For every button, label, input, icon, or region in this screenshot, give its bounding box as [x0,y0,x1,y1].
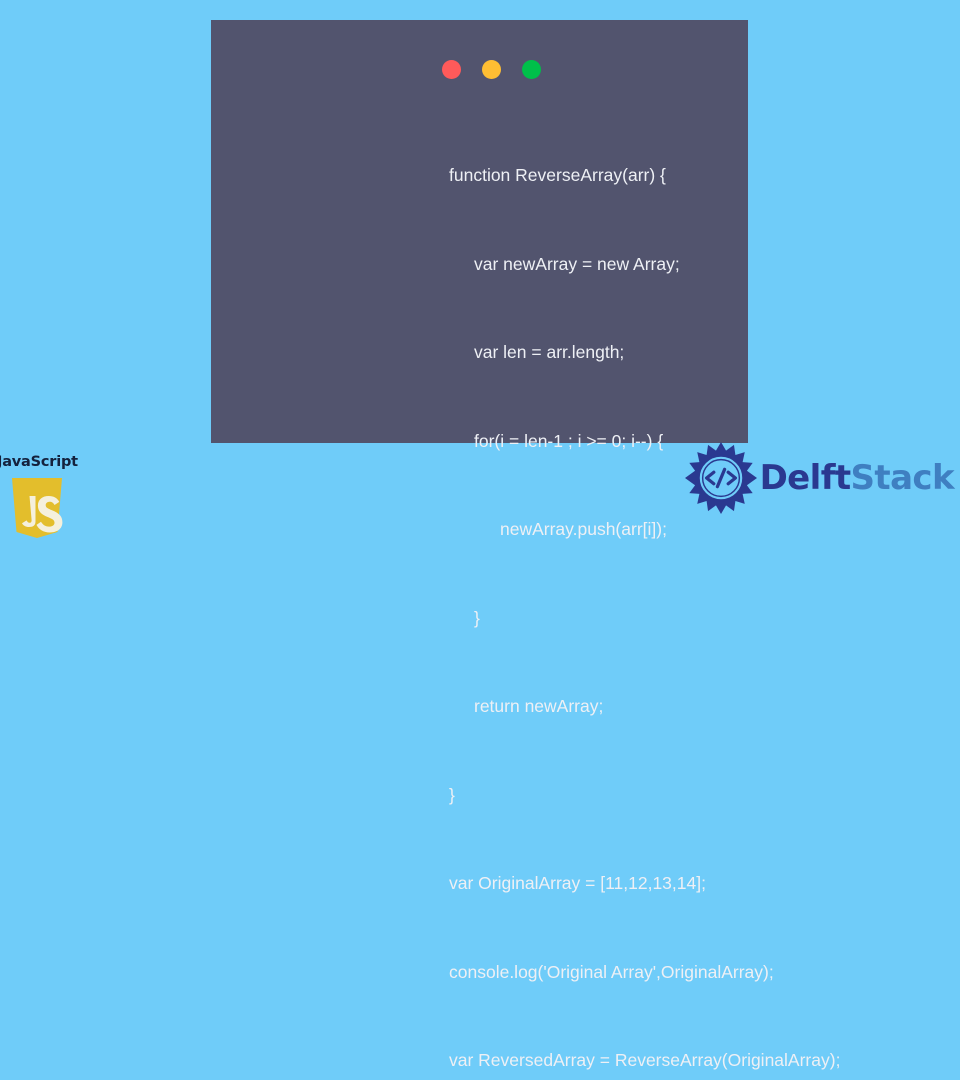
javascript-badge: JavaScript [0,454,80,540]
code-line: var newArray = new Array; [449,250,949,280]
javascript-label: JavaScript [0,454,78,470]
code-block[interactable]: function ReverseArray(arr) { var newArra… [449,102,949,1080]
code-line: var len = arr.length; [449,338,949,368]
window-minimize-button[interactable] [482,60,501,79]
delftstack-wordmark: DelftStack [760,461,954,495]
delftstack-logo: DelftStack [684,442,954,514]
code-line: return newArray; [449,692,949,722]
code-window: function ReverseArray(arr) { var newArra… [211,20,748,443]
delftstack-word-delft: Delft [760,458,851,498]
code-line: var ReversedArray = ReverseArray(Origina… [449,1046,949,1076]
code-mandala-emblem-icon [684,442,758,514]
code-line: var OriginalArray = [11,12,13,14]; [449,869,949,899]
window-close-button[interactable] [442,60,461,79]
code-line: console.log('Original Array',OriginalArr… [449,958,949,988]
code-window-titlebar [211,20,748,78]
code-line: } [449,781,949,811]
code-line: function ReverseArray(arr) { [449,161,949,191]
code-line: newArray.push(arr[i]); [449,515,949,545]
javascript-shield-icon [8,476,66,540]
window-maximize-button[interactable] [522,60,541,79]
code-line: } [449,604,949,634]
delftstack-word-stack: Stack [851,458,954,498]
